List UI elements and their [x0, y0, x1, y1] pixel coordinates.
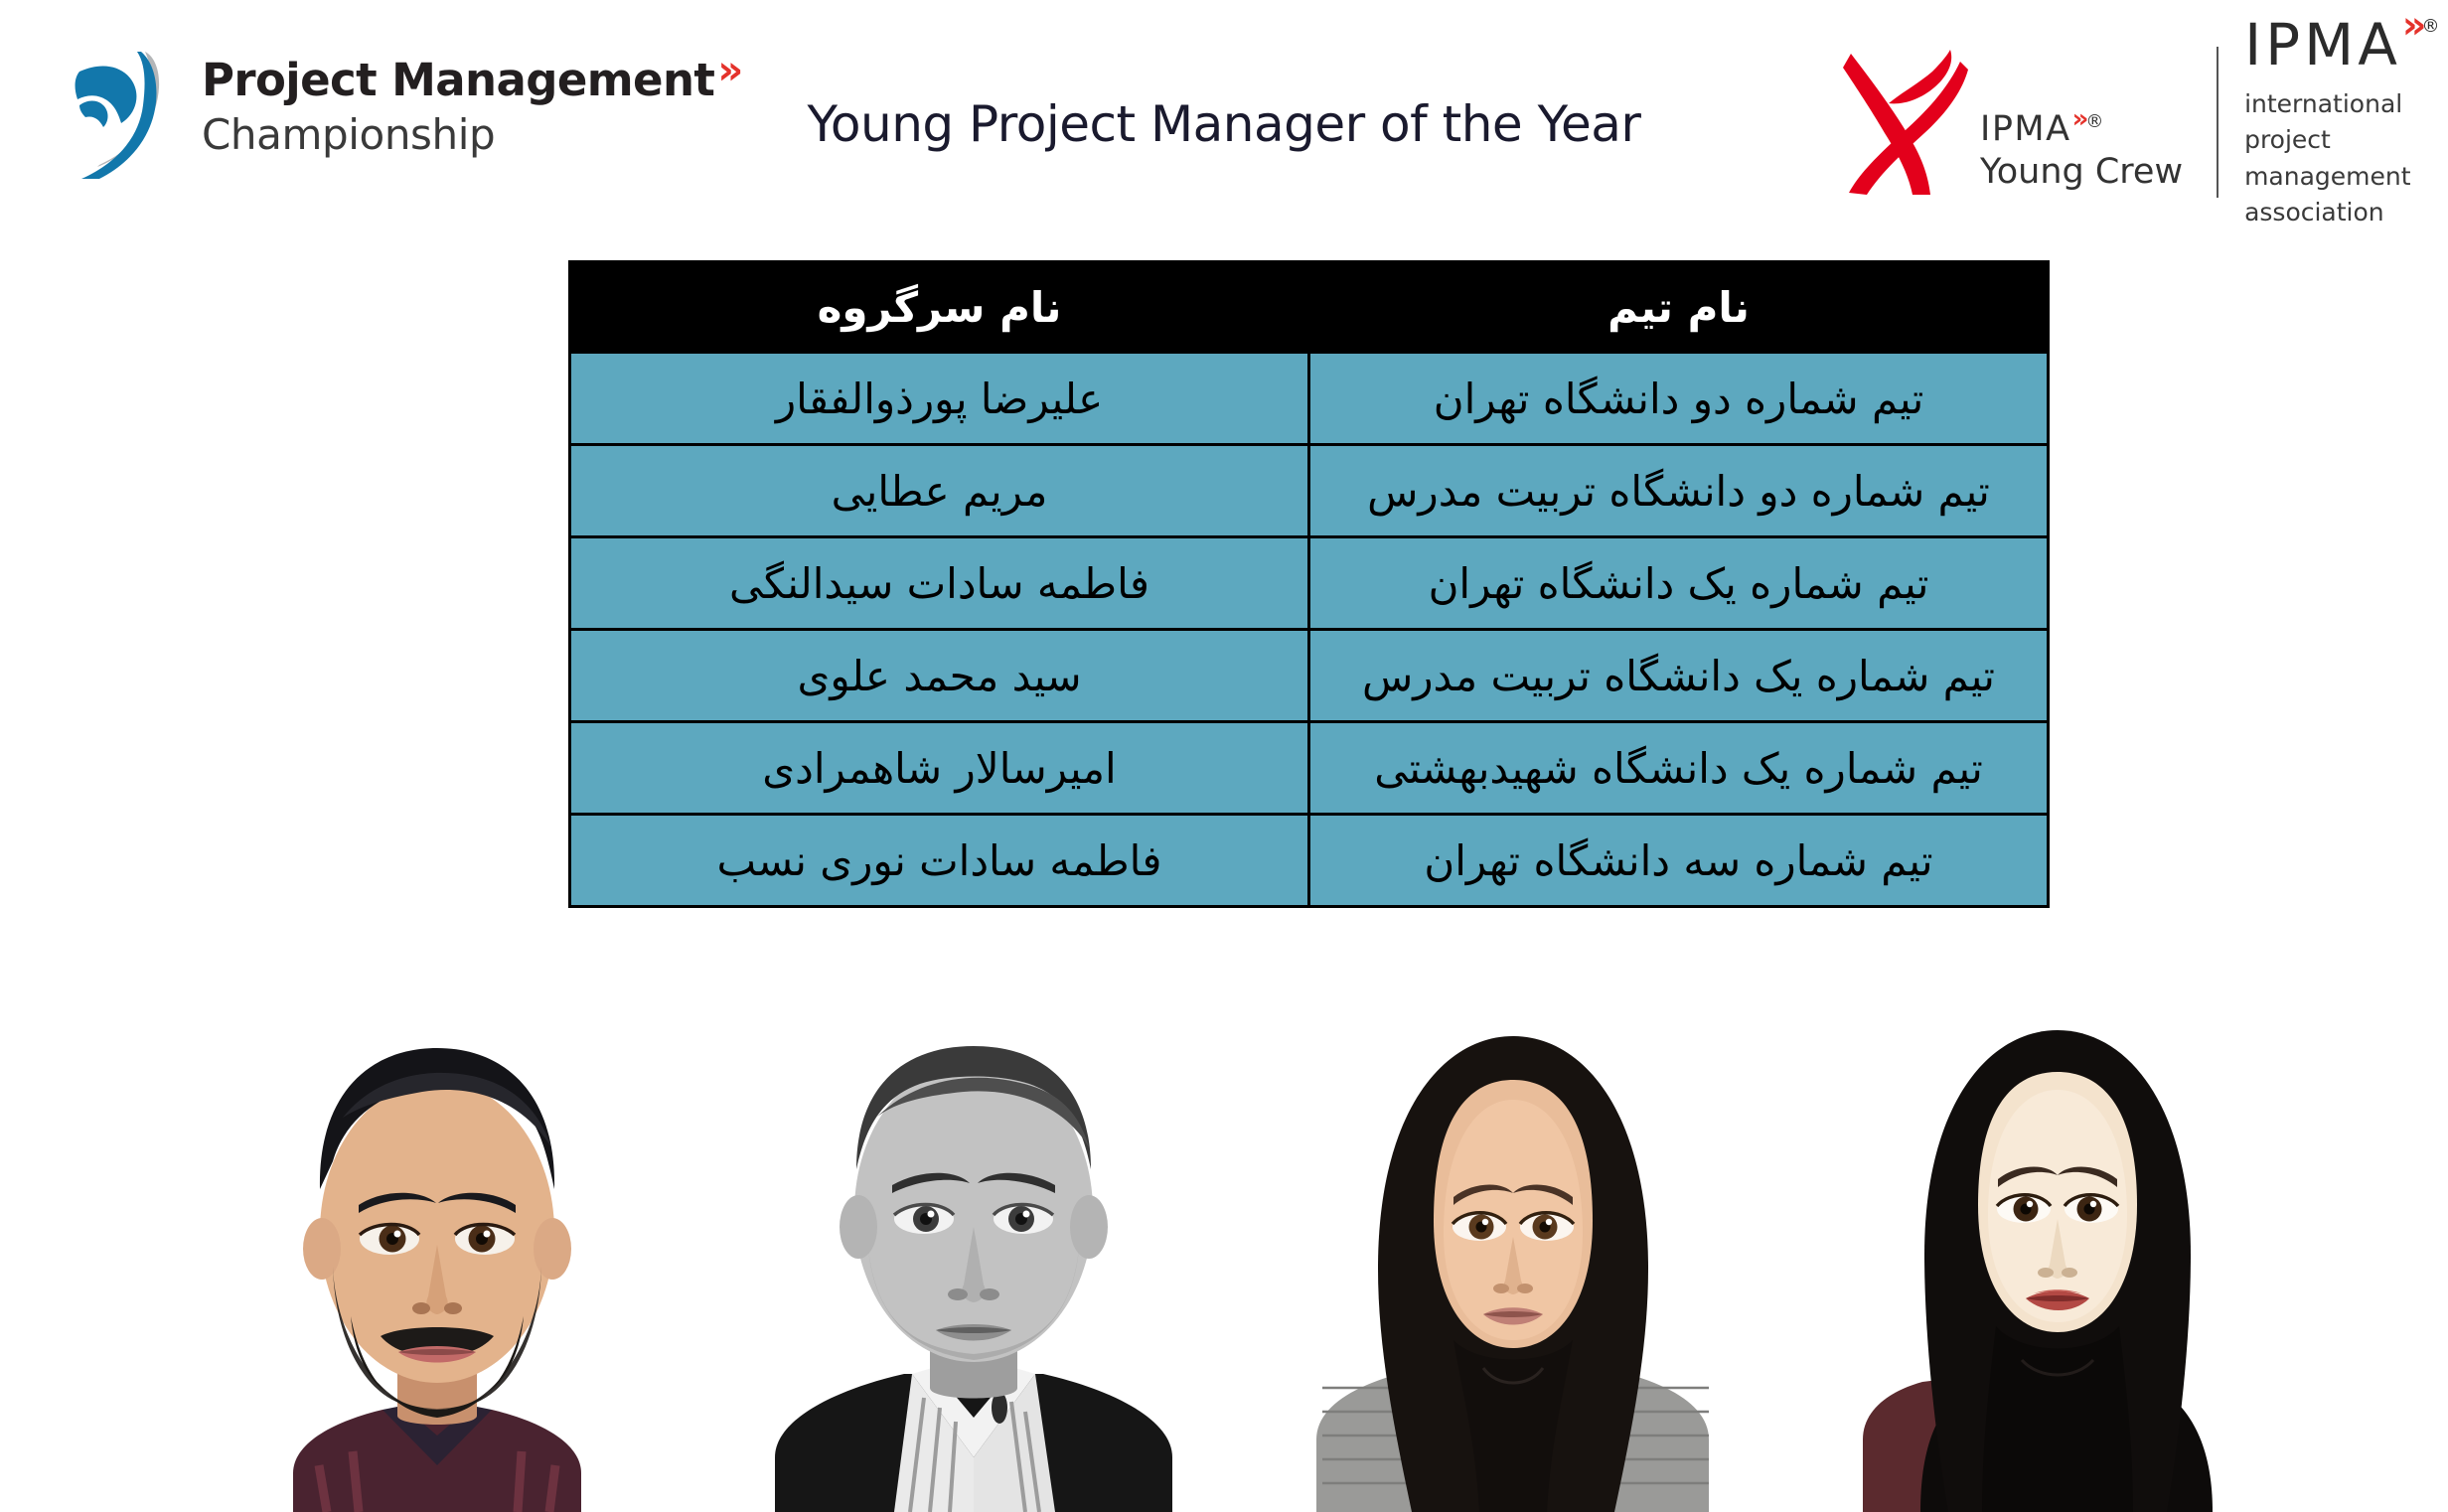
- cell-team: تیم شماره یک دانشگاه تربیت مدرس: [1309, 630, 2049, 722]
- table-header-row: نام تیم نام سرگروه: [570, 262, 2049, 353]
- ipma-tagline-line-3: management: [2244, 159, 2443, 196]
- participant-photo-1: [224, 969, 651, 1512]
- table-row: تیم شماره دو دانشگاه تربیت مدرس مریم عطا…: [570, 445, 2049, 537]
- participant-photo-2: [765, 990, 1182, 1512]
- cell-leader: علیرضا پورذوالفقار: [570, 353, 1309, 445]
- cell-team: تیم شماره یک دانشگاه تهران: [1309, 537, 2049, 630]
- ipma-chevron-icon: »: [2072, 106, 2085, 133]
- ipma-tagline-line-2: project: [2244, 122, 2443, 159]
- ipma-registered-icon-large: ®: [2421, 18, 2443, 36]
- ipma-tagline-line-1: international: [2244, 86, 2443, 123]
- page-header: Project Management » Championship Young …: [0, 0, 2448, 248]
- ipma-divider: [2217, 47, 2218, 198]
- teams-table: نام تیم نام سرگروه تیم شماره دو دانشگاه …: [568, 260, 2050, 908]
- column-header-team: نام تیم: [1309, 262, 2049, 353]
- cell-team: تیم شماره دو دانشگاه تربیت مدرس: [1309, 445, 2049, 537]
- participant-photo-strip: [0, 969, 2448, 1512]
- ipma-wordmark: IPMA: [2244, 16, 2401, 74]
- ipma-logo-lockup: IPMA » ® Young Crew IPMA » ® internation…: [1843, 38, 2443, 207]
- ipma-young-crew-wordmark: IPMA: [1980, 111, 2071, 148]
- table-row: تیم شماره یک دانشگاه شهیدبهشتی امیرسالار…: [570, 722, 2049, 815]
- cell-leader: فاطمه سادات نوری نسب: [570, 815, 1309, 907]
- cell-team: تیم شماره دو دانشگاه تهران: [1309, 353, 2049, 445]
- table-row: تیم شماره یک دانشگاه تربیت مدرس سید محمد…: [570, 630, 2049, 722]
- participant-photo-4: [1863, 990, 2250, 1512]
- participant-photo-3: [1316, 990, 1709, 1512]
- cell-team: تیم شماره سه دانشگاه تهران: [1309, 815, 2049, 907]
- cell-team: تیم شماره یک دانشگاه شهیدبهشتی: [1309, 722, 2049, 815]
- ipma-x-mark-icon: [1843, 44, 1970, 201]
- cell-leader: مریم عطایی: [570, 445, 1309, 537]
- table-row: تیم شماره یک دانشگاه تهران فاطمه سادات س…: [570, 537, 2049, 630]
- cell-leader: امیرسالار شاهمرادی: [570, 722, 1309, 815]
- ipma-tagline-line-4: association: [2244, 195, 2443, 231]
- table-row: تیم شماره دو دانشگاه تهران علیرضا پورذوا…: [570, 353, 2049, 445]
- column-header-leader: نام سرگروه: [570, 262, 1309, 353]
- cell-leader: فاطمه سادات سیدالنگی: [570, 537, 1309, 630]
- table-row: تیم شماره سه دانشگاه تهران فاطمه سادات ن…: [570, 815, 2049, 907]
- ipma-young-crew-label: Young Crew: [1980, 153, 2183, 192]
- ipma-registered-icon: ®: [2085, 113, 2105, 132]
- pmc-chevron-icon: »: [717, 51, 737, 90]
- cell-leader: سید محمد علوی: [570, 630, 1309, 722]
- teams-table-body: تیم شماره دو دانشگاه تهران علیرضا پورذوا…: [570, 353, 2049, 907]
- teams-table-head: نام تیم نام سرگروه: [570, 262, 2049, 353]
- ipma-chevron-icon-large: »: [2402, 6, 2421, 44]
